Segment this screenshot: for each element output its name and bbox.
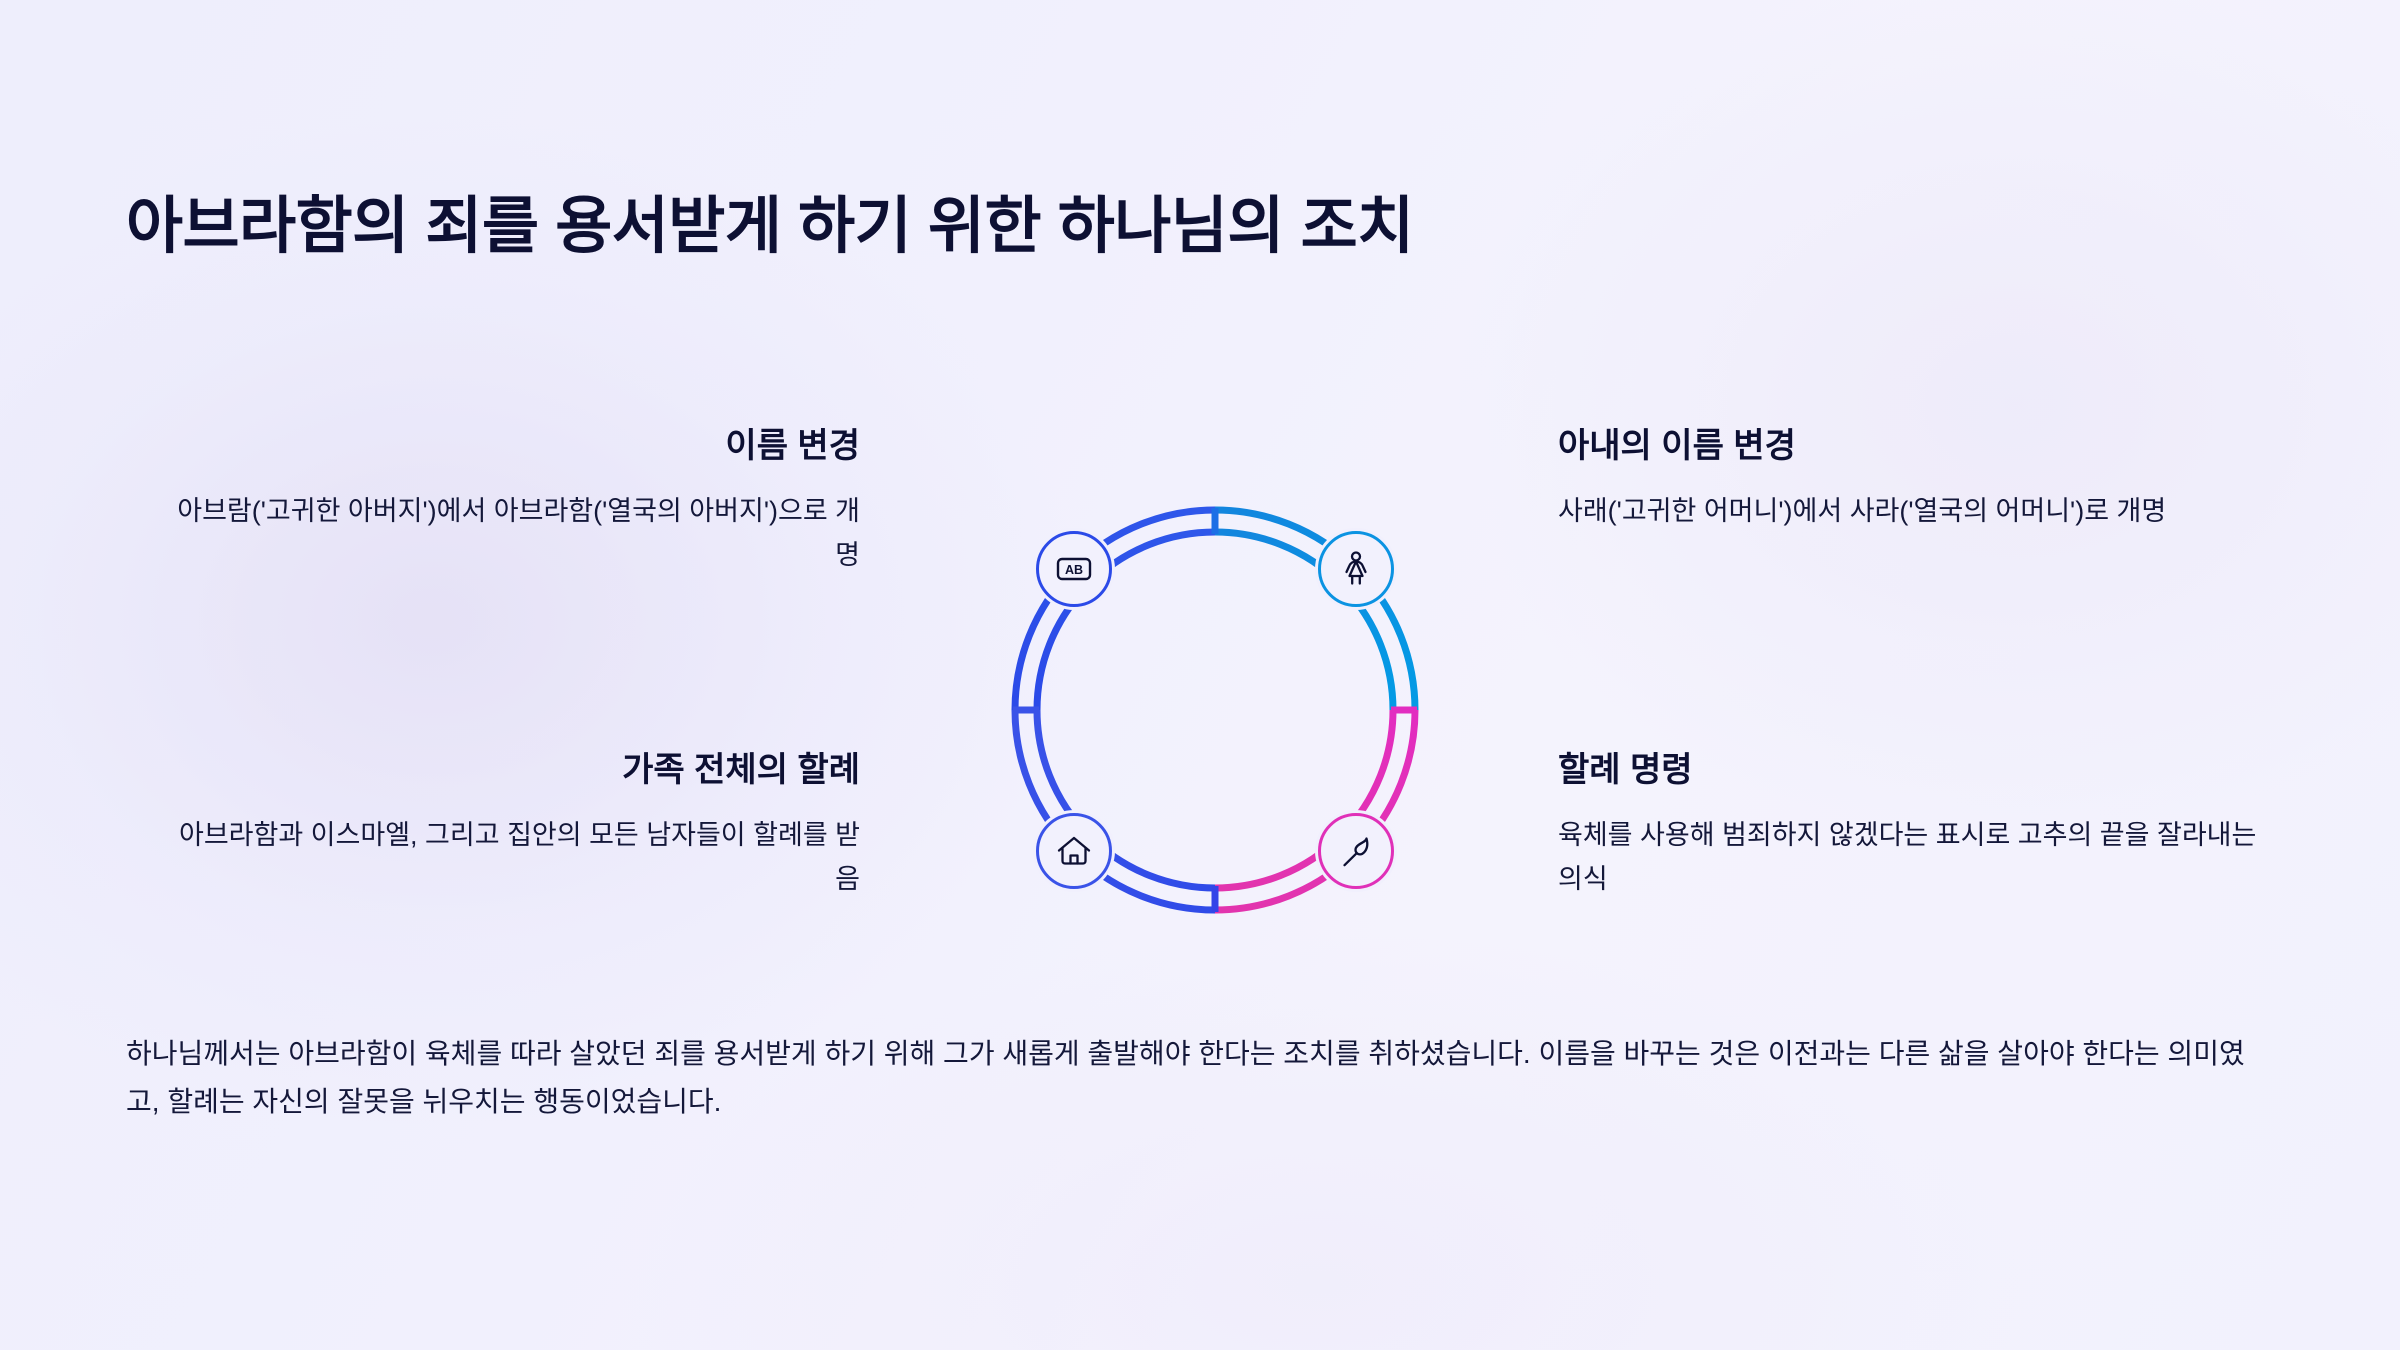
text-block-name-change: 이름 변경 아브람('고귀한 아버지')에서 아브라함('열국의 아버지')으로… xyxy=(160,424,860,578)
block-heading: 할례 명령 xyxy=(1558,748,2278,792)
nameplate-ab-icon: AB xyxy=(1056,556,1092,582)
text-block-wife-name-change: 아내의 이름 변경 사래('고귀한 어머니')에서 사라('열국의 어머니')로… xyxy=(1558,424,2278,534)
ring-outer-arc-top-left xyxy=(1015,510,1215,710)
cycle-node-family-circumcision[interactable] xyxy=(1036,813,1112,889)
svg-text:AB: AB xyxy=(1065,563,1083,577)
page-title: 아브라함의 죄를 용서받게 하기 위한 하나님의 조치 xyxy=(126,190,2276,263)
cycle-node-wife-name-change[interactable] xyxy=(1318,531,1394,607)
summary-paragraph: 하나님께서는 아브라함이 육체를 따라 살았던 죄를 용서받게 하기 위해 그가… xyxy=(126,1030,2276,1126)
home-icon xyxy=(1055,833,1093,869)
block-body: 아브라함과 이스마엘, 그리고 집안의 모든 남자들이 할례를 받음 xyxy=(160,814,860,901)
block-heading: 가족 전체의 할례 xyxy=(160,748,860,792)
cycle-node-circumcision-command[interactable] xyxy=(1318,813,1394,889)
cycle-node-name-change[interactable]: AB xyxy=(1036,531,1112,607)
cycle-ring-graphic xyxy=(865,360,1565,1060)
knife-icon xyxy=(1337,832,1375,870)
ring-outer-arc-bottom-right xyxy=(1215,710,1415,910)
text-block-circumcision-command: 할례 명령 육체를 사용해 범죄하지 않겠다는 표시로 고추의 끝을 잘라내는 … xyxy=(1558,748,2278,902)
block-body: 육체를 사용해 범죄하지 않겠다는 표시로 고추의 끝을 잘라내는 의식 xyxy=(1558,814,2278,901)
ring-outer-arc-top-right xyxy=(1215,510,1415,710)
woman-icon xyxy=(1339,550,1373,588)
block-heading: 아내의 이름 변경 xyxy=(1558,424,2278,468)
slide-canvas: 아브라함의 죄를 용서받게 하기 위한 하나님의 조치 xyxy=(0,0,2400,1350)
cycle-diagram: AB xyxy=(865,360,1565,1060)
ring-outer-arc-bottom-left xyxy=(1015,710,1215,910)
block-body: 아브람('고귀한 아버지')에서 아브라함('열국의 아버지')으로 개명 xyxy=(160,490,860,577)
text-block-family-circumcision: 가족 전체의 할례 아브라함과 이스마엘, 그리고 집안의 모든 남자들이 할례… xyxy=(160,748,860,902)
block-body: 사래('고귀한 어머니')에서 사라('열국의 어머니')로 개명 xyxy=(1558,490,2278,534)
block-heading: 이름 변경 xyxy=(160,424,860,468)
